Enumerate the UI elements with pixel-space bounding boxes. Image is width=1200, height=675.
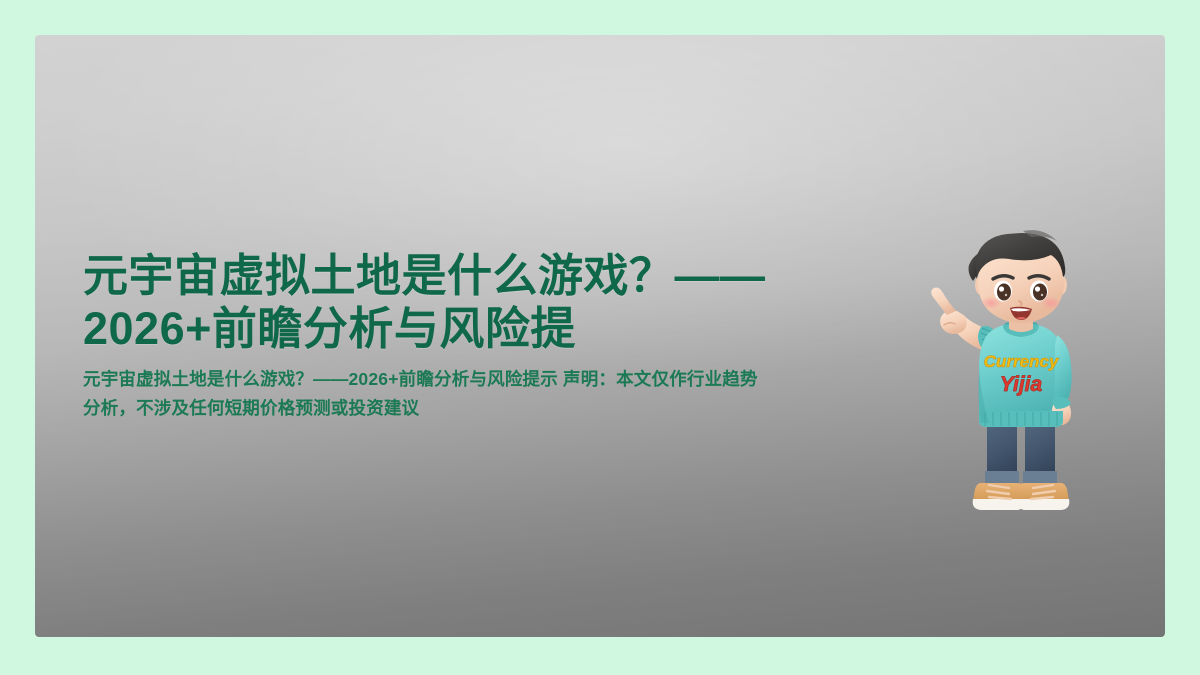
character-head [969, 230, 1068, 323]
slide-title-line-2: 2026+前瞻分析与风险提 [83, 303, 576, 354]
mascot-character-illustration: Currency Yijia [911, 225, 1131, 535]
slide-text-block: 元宇宙虚拟土地是什么游戏？——2026+前瞻分析与风险提 元宇宙虚拟土地是什么游… [83, 250, 773, 422]
presentation-slide-frame: 元宇宙虚拟土地是什么游戏？——2026+前瞻分析与风险提 元宇宙虚拟土地是什么游… [0, 0, 1200, 675]
sweater-text-currency: Currency [984, 352, 1060, 371]
slide-canvas: 元宇宙虚拟土地是什么游戏？——2026+前瞻分析与风险提 元宇宙虚拟土地是什么游… [35, 35, 1165, 637]
slide-title-line-1: 元宇宙虚拟土地是什么游戏？—— [83, 250, 766, 301]
slide-title: 元宇宙虚拟土地是什么游戏？——2026+前瞻分析与风险提 [83, 250, 773, 355]
sweater-text-yijia: Yijia [1000, 373, 1043, 396]
slide-subtitle: 元宇宙虚拟土地是什么游戏？——2026+前瞻分析与风险提示 声明：本文仅作行业趋… [83, 365, 773, 422]
character-legs [985, 421, 1057, 486]
character-shoes [973, 483, 1070, 510]
